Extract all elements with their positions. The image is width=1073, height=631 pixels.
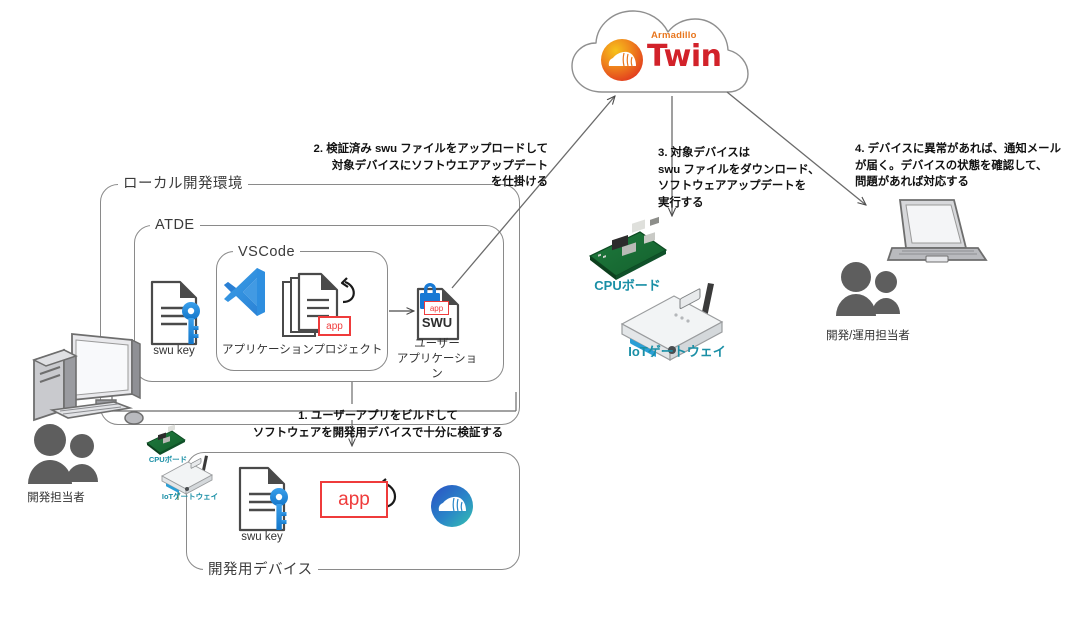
iot-gateway-label-small: IoTゲートウェイ (152, 492, 228, 502)
iot-gateway-label: IoTゲートウェイ (612, 344, 742, 361)
caption-step4: 4. デバイスに異常があれば、通知メール が届く。デバイスの状態を確認して、 問… (855, 141, 1070, 191)
devops-people-icon (836, 262, 900, 316)
swu-key-bottom-label: swu key (222, 530, 302, 545)
group-vscode-label: VSCode (233, 245, 300, 260)
group-local-env-label: ローカル開発環境 (118, 177, 248, 192)
app-chip-swu: app (424, 301, 449, 315)
laptop-icon (888, 200, 986, 262)
developer-label: 開発担当者 (16, 491, 96, 506)
app-box-bottom: app (320, 481, 388, 518)
swu-doc-type-label: SWU (420, 315, 454, 330)
caption-step1: 1. ユーザーアプリをビルドして ソフトウェアを開発用デバイスで十分に検証する (233, 408, 523, 441)
group-dev-device-label: 開発用デバイス (203, 563, 318, 578)
devops-operator-label: 開発/運用担当者 (810, 329, 926, 344)
armadillo-twin-logo: Armadillo Twin (647, 42, 722, 72)
twin-logo-subtitle: Armadillo (651, 31, 697, 41)
group-atde-label: ATDE (150, 218, 200, 233)
twin-logo-title: Twin (647, 42, 722, 72)
caption-step2: 2. 検証済み swu ファイルをアップロードして 対象デバイスにソフトウエアア… (300, 141, 548, 191)
application-project-label: アプリケーションプロジェクト (222, 343, 382, 358)
cpu-board-icon (590, 217, 666, 280)
cpu-board-label: CPUボード (580, 278, 675, 295)
cpu-board-icon-small (147, 425, 185, 455)
developer-people-icon (28, 424, 98, 484)
app-chip-project: app (318, 316, 351, 336)
user-application-label: ユーザー アプリケーション (392, 337, 482, 382)
swu-key-label: swu key (134, 344, 214, 359)
armadillo-twin-logo-icon (601, 39, 643, 81)
cpu-board-label-small: CPUボード (140, 455, 196, 465)
caption-step3: 3. 対象デバイスは swu ファイルをダウンロード、 ソフトウェアアップデート… (658, 145, 828, 211)
